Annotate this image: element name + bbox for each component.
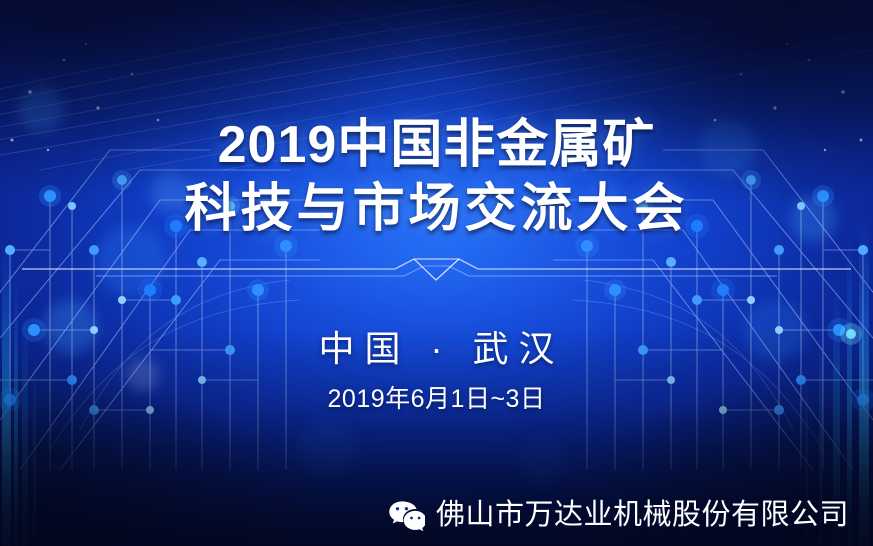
title-divider xyxy=(0,255,873,289)
page-title-line1: 2019中国非金属矿 xyxy=(184,113,688,177)
title-block: 2019中国非金属矿 科技与市场交流大会 xyxy=(184,113,688,241)
event-location: 中国 · 武汉 xyxy=(309,327,565,371)
page-title-line2: 科技与市场交流大会 xyxy=(184,177,688,241)
company-name: 佛山市万达业机械股份有限公司 xyxy=(436,498,849,532)
event-date: 2019年6月1日~3日 xyxy=(328,383,546,415)
conference-poster: 2019中国非金属矿 科技与市场交流大会 中国 · 武汉 2019年6月1日~3… xyxy=(0,0,873,546)
wechat-icon xyxy=(388,500,425,531)
poster-content: 2019中国非金属矿 科技与市场交流大会 中国 · 武汉 2019年6月1日~3… xyxy=(0,0,873,546)
wechat-footer[interactable]: 佛山市万达业机械股份有限公司 xyxy=(388,498,849,532)
